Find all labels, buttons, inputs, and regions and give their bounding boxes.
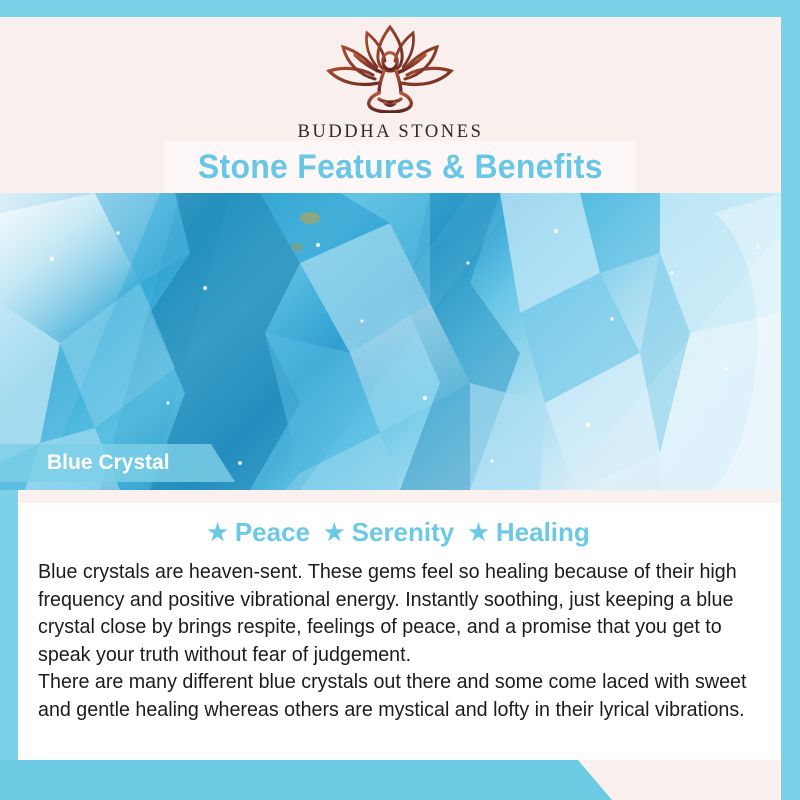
keyword-list: ★ Peace ★ Serenity ★ Healing [38,517,759,548]
brand-name: BUDDHA STONES [297,122,483,143]
keyword-label: Serenity [352,517,455,548]
hero-image: Blue Crystal [0,193,781,490]
right-accent-strip [781,17,800,800]
bottom-accent-bar [0,760,612,800]
keyword-label: Peace [235,517,310,548]
body-paragraph-1: Blue crystals are heaven-sent. These gem… [38,558,758,668]
page-title: Stone Features & Benefits [198,148,603,187]
keyword-label: Healing [496,517,590,548]
keyword-item-serenity: ★ Serenity [324,517,454,548]
star-icon: ★ [324,521,345,544]
header: BUDDHA STONES [0,17,781,141]
keyword-item-healing: ★ Healing [468,517,590,548]
top-accent-strip [0,0,800,17]
star-icon: ★ [207,521,228,544]
star-icon: ★ [468,521,489,544]
keyword-item-peace: ★ Peace [207,517,310,548]
content-panel: ★ Peace ★ Serenity ★ Healing Blue crysta… [18,503,781,760]
caption-label: Blue Crystal [47,451,170,475]
lotus-meditation-icon [315,21,465,118]
brand-logo: BUDDHA STONES [297,21,483,143]
left-accent-strip [0,488,18,800]
title-banner: Stone Features & Benefits [164,141,636,193]
caption-banner: Blue Crystal [0,444,235,482]
body-text: Blue crystals are heaven-sent. These gem… [38,558,758,723]
body-paragraph-2: There are many different blue crystals o… [38,668,758,723]
